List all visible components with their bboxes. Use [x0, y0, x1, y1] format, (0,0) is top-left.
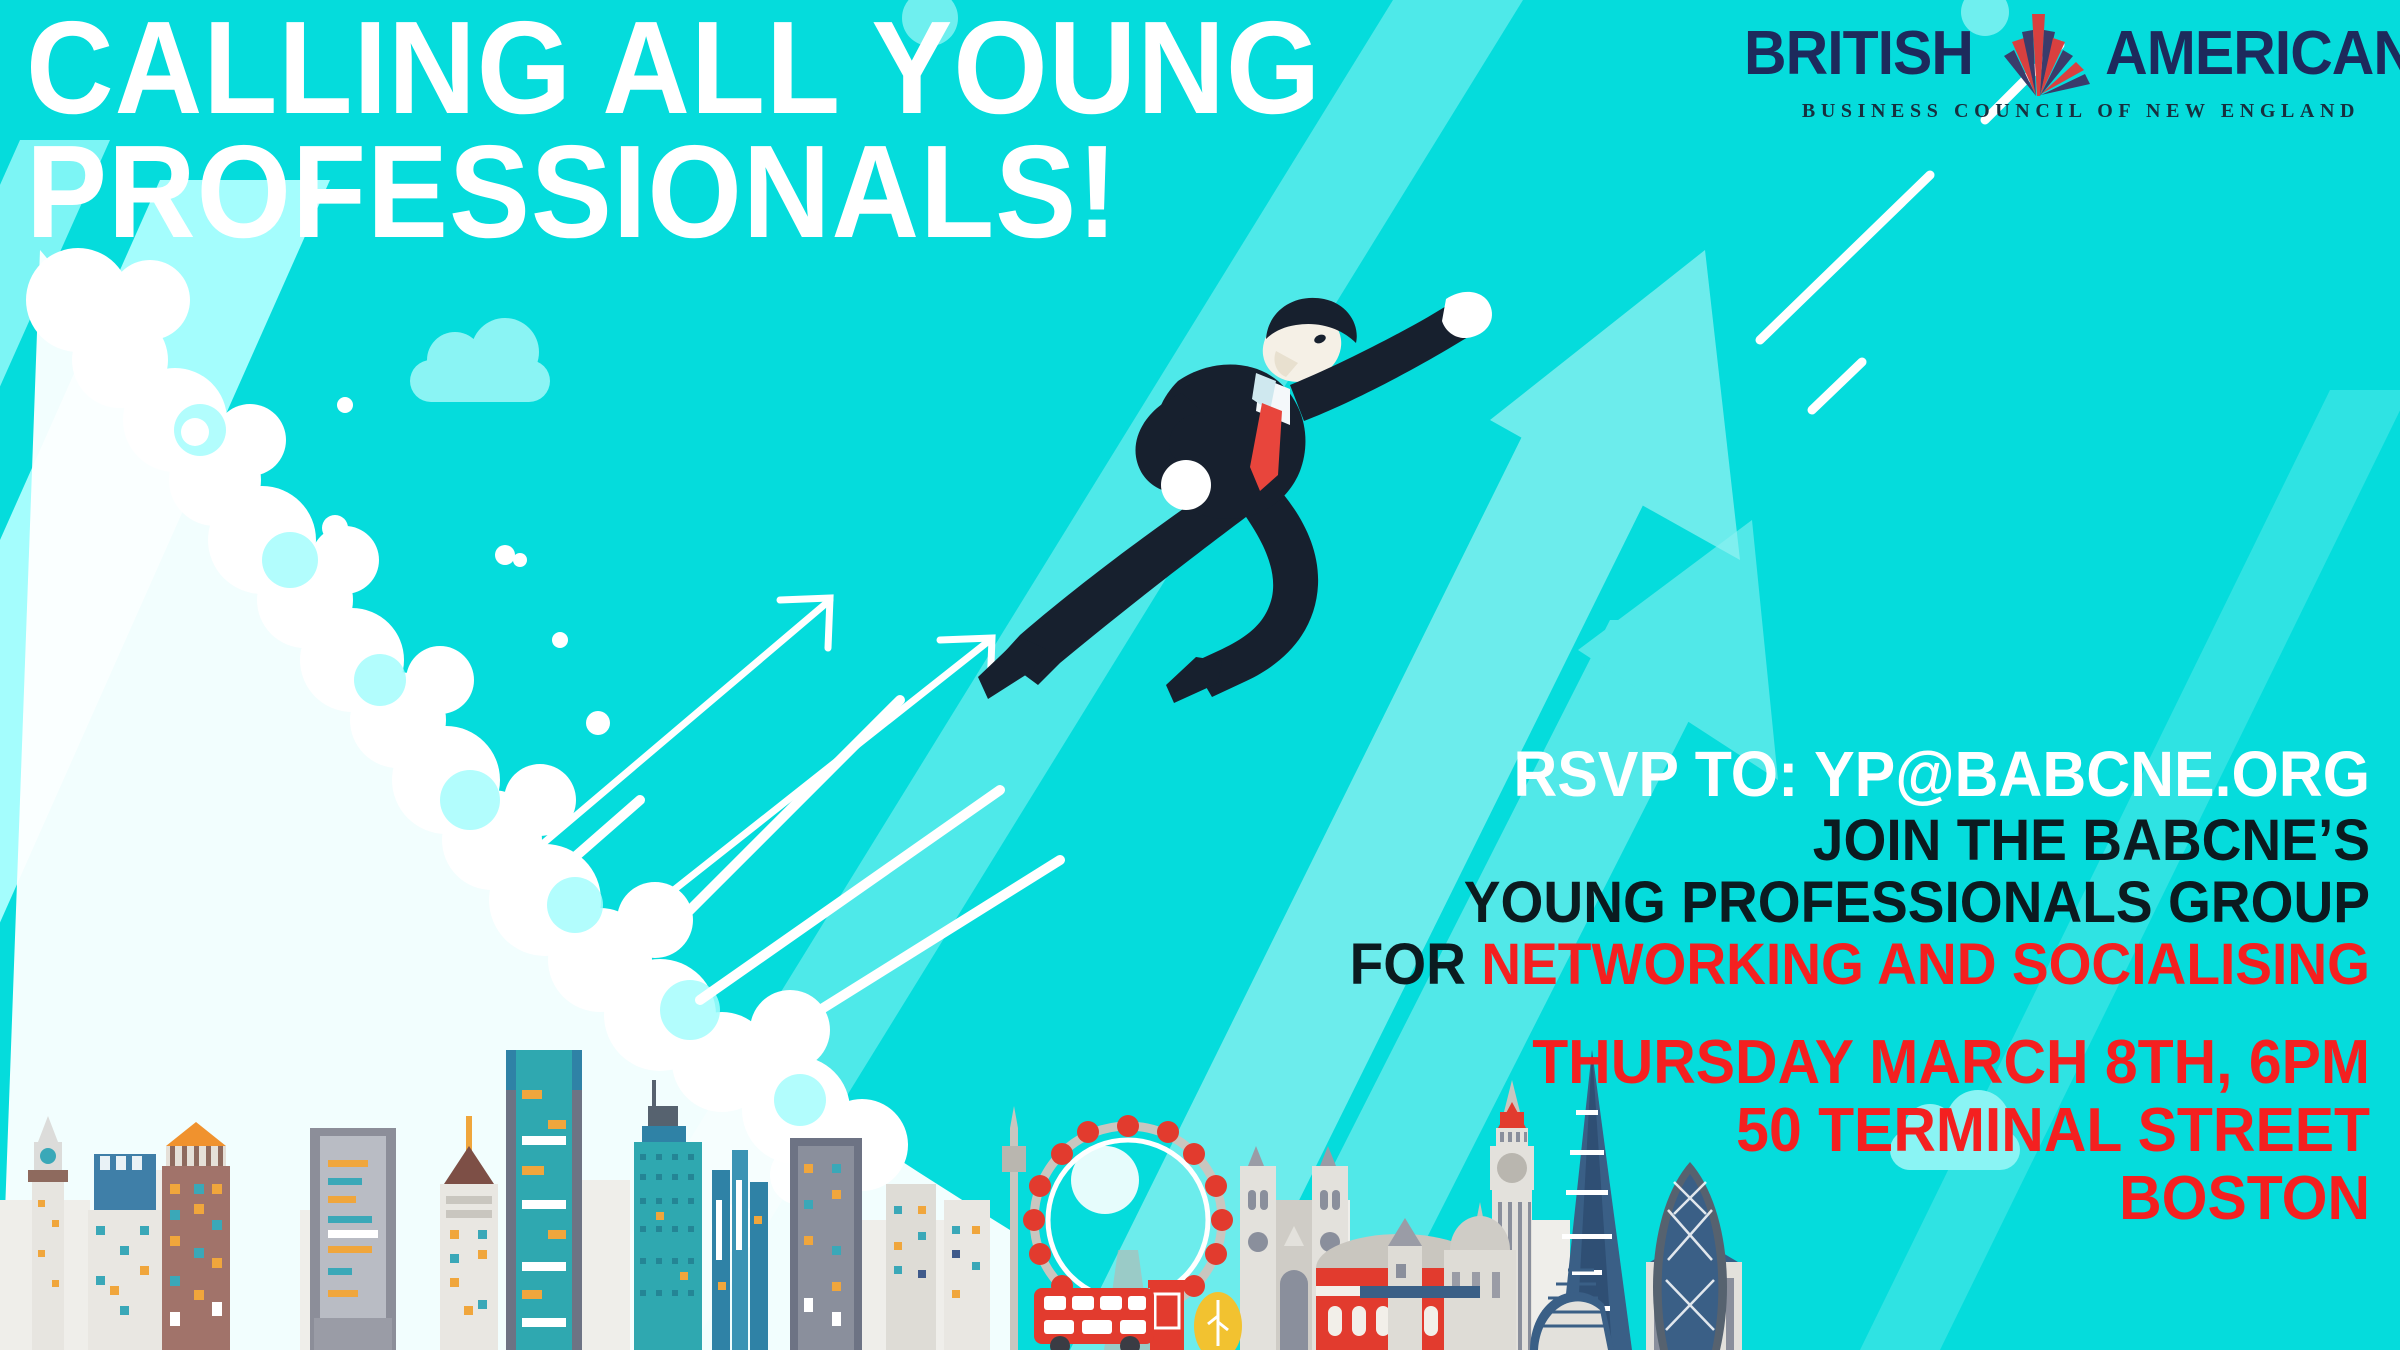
fan-burst-emblem — [1979, 8, 2097, 100]
page-title: CALLING ALL YOUNG PROFESSIONALS! — [26, 6, 1786, 254]
leaping-businessman-illustration — [960, 285, 1520, 705]
purpose-prefix: FOR — [1350, 932, 1482, 997]
headline-line-2: PROFESSIONALS! — [26, 130, 1645, 254]
rsvp-line: RSVP TO: YP@BABCNE.ORG — [812, 742, 2370, 806]
event-address: 50 TERMINAL STREET — [812, 1100, 2370, 1162]
event-details-block: THURSDAY MARCH 8TH, 6PM 50 TERMINAL STRE… — [730, 1032, 2370, 1236]
purpose-line: FOR NETWORKING AND SOCIALISING — [812, 936, 2370, 994]
purpose-highlight: NETWORKING AND SOCIALISING — [1481, 932, 2370, 997]
logo-word-american: AMERICAN — [2106, 23, 2400, 85]
event-datetime: THURSDAY MARCH 8TH, 6PM — [812, 1032, 2370, 1094]
double-decker-bus — [1034, 1288, 1154, 1350]
custom-house-tower — [28, 1116, 68, 1350]
event-city: BOSTON — [812, 1168, 2370, 1230]
logo-tagline: BUSINESS COUNCIL OF NEW ENGLAND — [1776, 100, 2386, 123]
poster-canvas: CALLING ALL YOUNG PROFESSIONALS! BRITISH — [0, 0, 2400, 1350]
join-line: JOIN THE BABCNE’S — [812, 812, 2370, 870]
group-line: YOUNG PROFESSIONALS GROUP — [812, 874, 2370, 932]
hand-icon — [1442, 292, 1492, 338]
prudential-tower — [310, 1128, 396, 1350]
headline-line-1: CALLING ALL YOUNG — [26, 6, 1645, 130]
info-text-block: RSVP TO: YP@BABCNE.ORG JOIN THE BABCNE’S… — [730, 742, 2370, 994]
logo-wordmark: BRITISH AMERICAN — [1776, 8, 2386, 100]
logo-word-british: BRITISH — [1744, 23, 1973, 85]
hand-icon — [1161, 460, 1211, 510]
autumn-tree — [1194, 1292, 1242, 1350]
hancock-tower — [634, 1080, 702, 1350]
babcne-logo: BRITISH AMERICAN BUSINESS COUNCIL OF NEW… — [1776, 8, 2386, 123]
cloud-icon — [410, 318, 550, 402]
